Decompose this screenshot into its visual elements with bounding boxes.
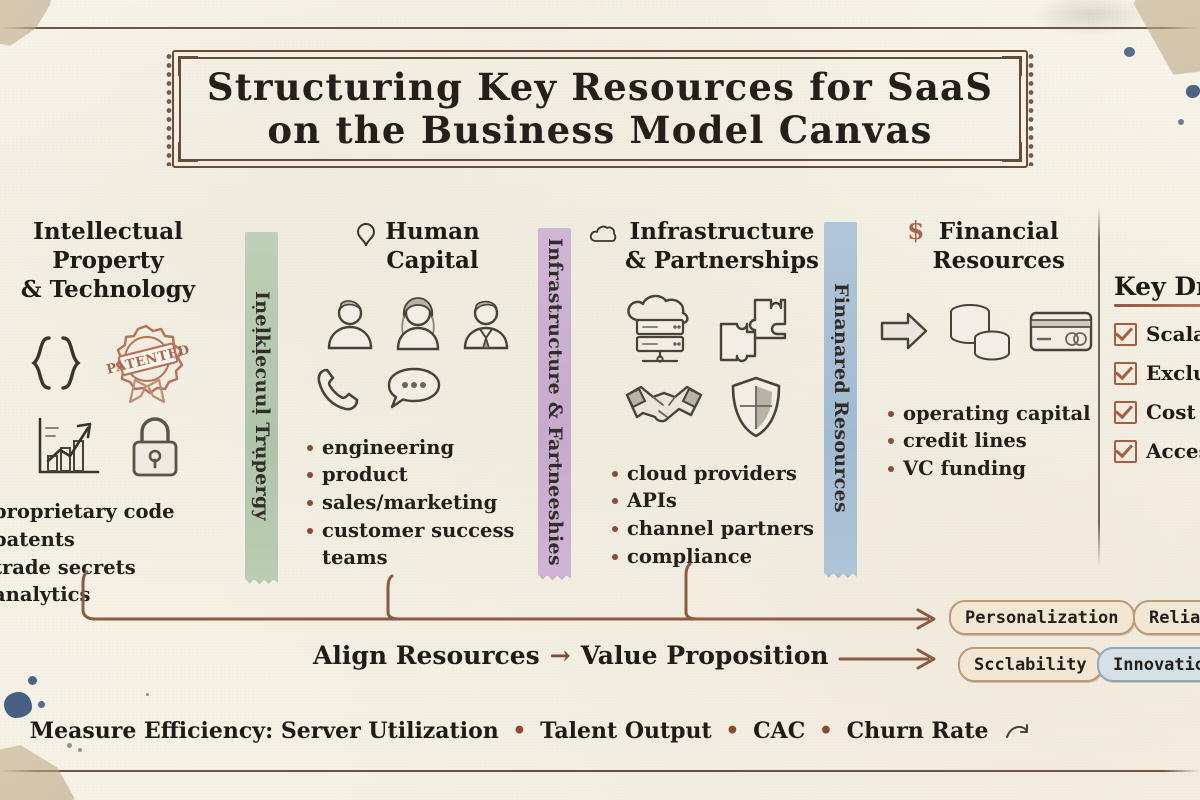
ink-blot (1178, 119, 1184, 125)
tape-label-intellectual-property: Iṇeḷkḷecuuḷ Trụpergy (245, 232, 278, 580)
footer-item-2: Talent Output (540, 718, 712, 744)
key-driver-item[interactable]: Cost S (1114, 400, 1200, 424)
shield-icon (727, 374, 785, 440)
checkbox-checked-icon[interactable] (1114, 440, 1137, 463)
footer-metrics: Measure Efficiency: Server Utilization •… (0, 718, 1060, 744)
key-drivers-panel: Key Dr Scalab Exclu Cost S Access (1114, 272, 1200, 463)
pill-reliability[interactable]: Reliab (1133, 600, 1200, 635)
list-item: engineering (305, 434, 530, 462)
paper-smudge (1030, 0, 1150, 36)
key-driver-label: Scalab (1146, 322, 1200, 346)
heading-line-1: Human (385, 218, 479, 245)
key-driver-item[interactable]: Access (1114, 439, 1200, 463)
column-financial-resources: $ Financial Resources (880, 218, 1092, 483)
key-driver-label: Exclu (1146, 361, 1200, 385)
puzzle-pieces-icon (715, 294, 787, 364)
list-item: APIs (610, 487, 820, 515)
column-heading-text: Infrastructure & Partnerships (625, 218, 819, 276)
pill-scalability[interactable]: Scclability (958, 647, 1103, 682)
column-infrastructure-partnerships: Infrastructure & Partnerships (588, 218, 820, 570)
title-line-2: on the Business Model Canvas (267, 110, 932, 151)
person-female-icon (389, 296, 447, 354)
column-header: $ Financial Resources (880, 218, 1092, 276)
padlock-icon (126, 414, 184, 480)
handshake-icon (623, 379, 705, 435)
cloud-server-icon (621, 294, 699, 364)
person-suit-icon (457, 296, 515, 354)
column-icon-row (588, 294, 820, 364)
footer-separator: • (719, 718, 745, 744)
column-header: Infrastructure & Partnerships (588, 218, 820, 276)
footer-separator: • (813, 718, 839, 744)
ink-blot (1186, 85, 1200, 98)
bottom-border-rule (0, 770, 1200, 772)
bullet-list-financial: operating capital credit lines VC fundin… (886, 400, 1092, 483)
column-icon-row: PATENTED (0, 320, 242, 406)
checkbox-checked-icon[interactable] (1114, 323, 1137, 346)
checkbox-checked-icon[interactable] (1114, 401, 1137, 424)
code-braces-icon (27, 332, 85, 394)
title-plaque: Structuring Key Resources for SaaS on th… (172, 50, 1028, 168)
heading-line-2: & Technology (21, 276, 195, 303)
list-item: product (305, 461, 530, 489)
column-icon-row (880, 300, 1092, 362)
heading-line-1: Financial (939, 218, 1059, 245)
column-heading-text: Human Capital (385, 218, 479, 276)
footer-prefix: Measure Efficiency: Server Utilization (30, 718, 499, 744)
credit-card-icon (1028, 308, 1094, 354)
list-item: cloud providers (610, 460, 820, 488)
key-driver-item[interactable]: Exclu (1114, 361, 1200, 385)
column-header: Human Capital (305, 218, 530, 276)
arrow-right-icon (878, 310, 930, 352)
align-right-text: Value Proposition (581, 641, 829, 670)
cloud-icon (589, 224, 617, 244)
pill-innovation[interactable]: Innovatio (1097, 647, 1200, 682)
tape-label-text: Finaṇared Resources (830, 283, 852, 513)
list-item: sales/marketing (305, 489, 530, 517)
tape-label-text: Infrastructure & Fartneeshies (544, 238, 566, 566)
key-driver-label: Access (1146, 439, 1200, 463)
ink-blot (1124, 47, 1135, 57)
ink-speck (78, 748, 82, 752)
checkbox-checked-icon[interactable] (1114, 362, 1137, 385)
infographic-canvas: Structuring Key Resources for SaaS on th… (0, 0, 1200, 800)
align-left-text: Align Resources (313, 641, 540, 670)
ink-blot (38, 701, 45, 708)
trend-arc-icon (996, 718, 1030, 744)
phone-icon (313, 364, 363, 414)
footer-item-4: Churn Rate (847, 718, 989, 744)
list-item: VC funding (886, 455, 1092, 483)
speech-bubble-icon (385, 365, 443, 413)
growth-chart-icon (32, 414, 102, 480)
heading-line-1: Infrastructure (630, 218, 815, 245)
tape-label-infrastructure: Infrastructure & Fartneeshies (538, 228, 571, 576)
column-icon-row-2 (305, 364, 530, 414)
list-item: channel partners (610, 515, 820, 543)
tape-label-financial: Finaṇared Resources (824, 222, 857, 574)
column-heading-text: Intellectual Property & Technology (0, 218, 242, 304)
heading-line-2: Capital (386, 247, 478, 274)
coin-stack-icon (942, 300, 1016, 362)
patented-badge-icon: PATENTED (103, 320, 189, 406)
page-title: Structuring Key Resources for SaaS on th… (172, 50, 1028, 168)
dollar-sign-icon: $ (907, 218, 924, 243)
key-drivers-divider (1098, 206, 1100, 566)
heading-line-2: Resources (932, 247, 1064, 274)
pill-personalization[interactable]: Personalization (949, 600, 1135, 635)
column-heading-text: Financial Resources (932, 218, 1064, 276)
list-item: operating capital (886, 400, 1092, 428)
column-icon-row-2 (588, 374, 820, 440)
lightbulb-icon (355, 221, 377, 249)
column-header: Intellectual Property & Technology (0, 218, 242, 304)
key-driver-label: Cost S (1146, 400, 1200, 424)
arrow-right-glyph-icon: → (550, 641, 571, 670)
person-icon (321, 296, 379, 354)
list-item: proprietary code (0, 498, 242, 526)
footer-separator: • (506, 718, 532, 744)
column-human-capital: Human Capital (305, 218, 530, 572)
ink-blot (4, 692, 32, 718)
key-driver-item[interactable]: Scalab (1114, 322, 1200, 346)
column-icon-row (305, 296, 530, 354)
list-item: credit lines (886, 427, 1092, 455)
title-line-1: Structuring Key Resources for SaaS (207, 67, 993, 108)
tape-label-text: Iṇeḷkḷecuuḷ Trụpergy (251, 291, 273, 521)
key-drivers-underline (1114, 304, 1200, 307)
footer-item-3: CAC (753, 718, 805, 744)
column-icon-row-2 (0, 414, 242, 480)
heading-line-2: & Partnerships (625, 247, 819, 274)
heading-line-1: Intellectual Property (33, 218, 183, 274)
ink-speck (146, 693, 149, 696)
key-drivers-title: Key Dr (1114, 272, 1200, 301)
top-border-rule (0, 27, 1200, 29)
tape-corner-top-left (0, 0, 64, 49)
align-resources-line: Align Resources → Value Proposition (313, 641, 829, 670)
